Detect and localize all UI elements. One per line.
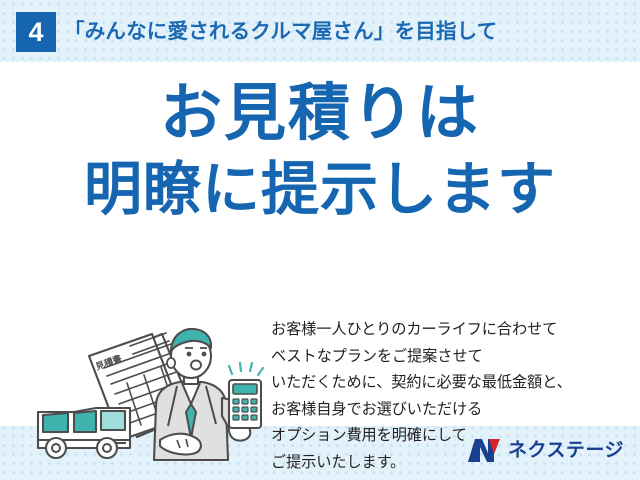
section-number-badge: 4 <box>16 12 56 52</box>
body-line-2: ベストなプランをご提案させて <box>271 344 631 371</box>
nextage-logo-mark <box>467 438 501 463</box>
slide-footer: ネクステージ <box>0 426 640 480</box>
nextage-logo-text: ネクステージ <box>508 438 624 463</box>
headline-line-1: お見積りは <box>0 76 640 152</box>
sparkle-icon <box>229 363 263 375</box>
slide-background: 4 「みんなに愛されるクルマ屋さん」を目指して お見積りは 明瞭に提示します <box>0 0 640 480</box>
content-panel: お見積りは 明瞭に提示します <box>0 62 640 426</box>
nextage-logo: ネクステージ <box>467 436 624 464</box>
page-title: 「みんなに愛されるクルマ屋さん」を目指して <box>64 13 497 51</box>
body-line-3: いただくために、契約に必要な最低金額と、 <box>271 370 631 397</box>
body-line-1: お客様一人ひとりのカーライフに合わせて <box>271 317 631 344</box>
calculator-icon <box>229 380 261 428</box>
slide-header: 4 「みんなに愛されるクルマ屋さん」を目指して <box>0 0 640 62</box>
headline-block: お見積りは 明瞭に提示します <box>0 76 640 228</box>
body-line-4: お客様自身でお選びいただける <box>271 397 631 424</box>
headline-line-2: 明瞭に提示します <box>0 152 640 228</box>
